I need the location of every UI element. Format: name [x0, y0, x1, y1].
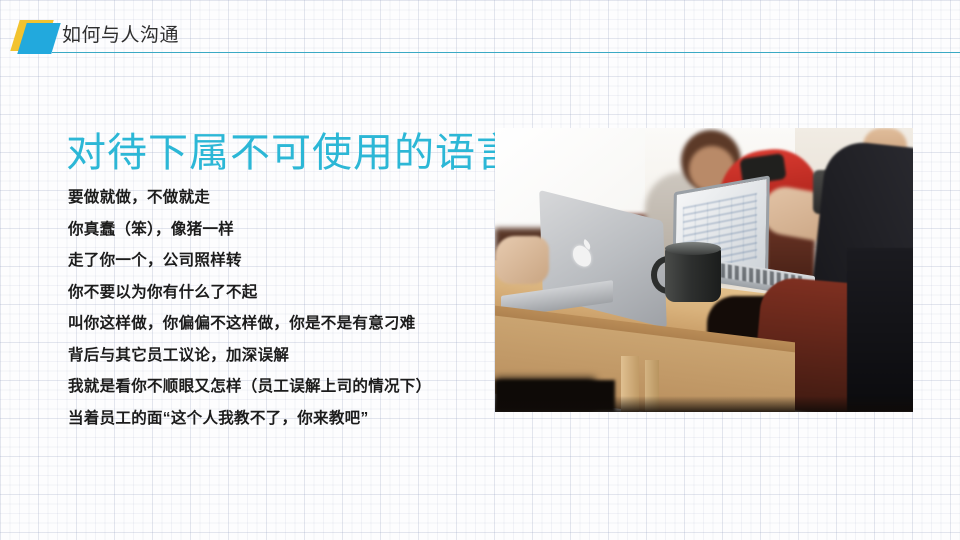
photo-dark-jacket-lower — [847, 248, 913, 412]
list-item: 走了你一个，公司照样转 — [68, 245, 498, 277]
list-item: 你不要以为你有什么了不起 — [68, 277, 498, 309]
list-item: 要做就做，不做就走 — [68, 182, 498, 214]
slide-canvas: 如何与人沟通 对待下属不可使用的语言 要做就做，不做就走 你真蠢（笨），像猪一样… — [0, 0, 960, 540]
slide-photo — [495, 128, 913, 412]
photo-bottom-shadow — [495, 396, 913, 412]
photo-mug-rim — [665, 242, 721, 255]
header-title: 如何与人沟通 — [62, 24, 179, 48]
slide-header: 如何与人沟通 — [0, 0, 960, 56]
list-item: 叫你这样做，你偏偏不这样做，你是不是有意刁难 — [68, 308, 498, 340]
list-item: 你真蠢（笨），像猪一样 — [68, 214, 498, 246]
photo-hand-on-keyboard — [495, 236, 549, 284]
list-item: 背后与其它员工议论，加深误解 — [68, 340, 498, 372]
header-divider-rule — [52, 52, 960, 53]
page-title: 对待下属不可使用的语言 — [66, 129, 517, 177]
list-item: 我就是看你不顺眼又怎样（员工误解上司的情况下） — [68, 371, 498, 403]
body-text-list: 要做就做，不做就走 你真蠢（笨），像猪一样 走了你一个，公司照样转 你不要以为你… — [68, 182, 498, 434]
header-logo-icon — [14, 20, 66, 54]
list-item: 当着员工的面“这个人我教不了，你来教吧” — [68, 403, 498, 435]
